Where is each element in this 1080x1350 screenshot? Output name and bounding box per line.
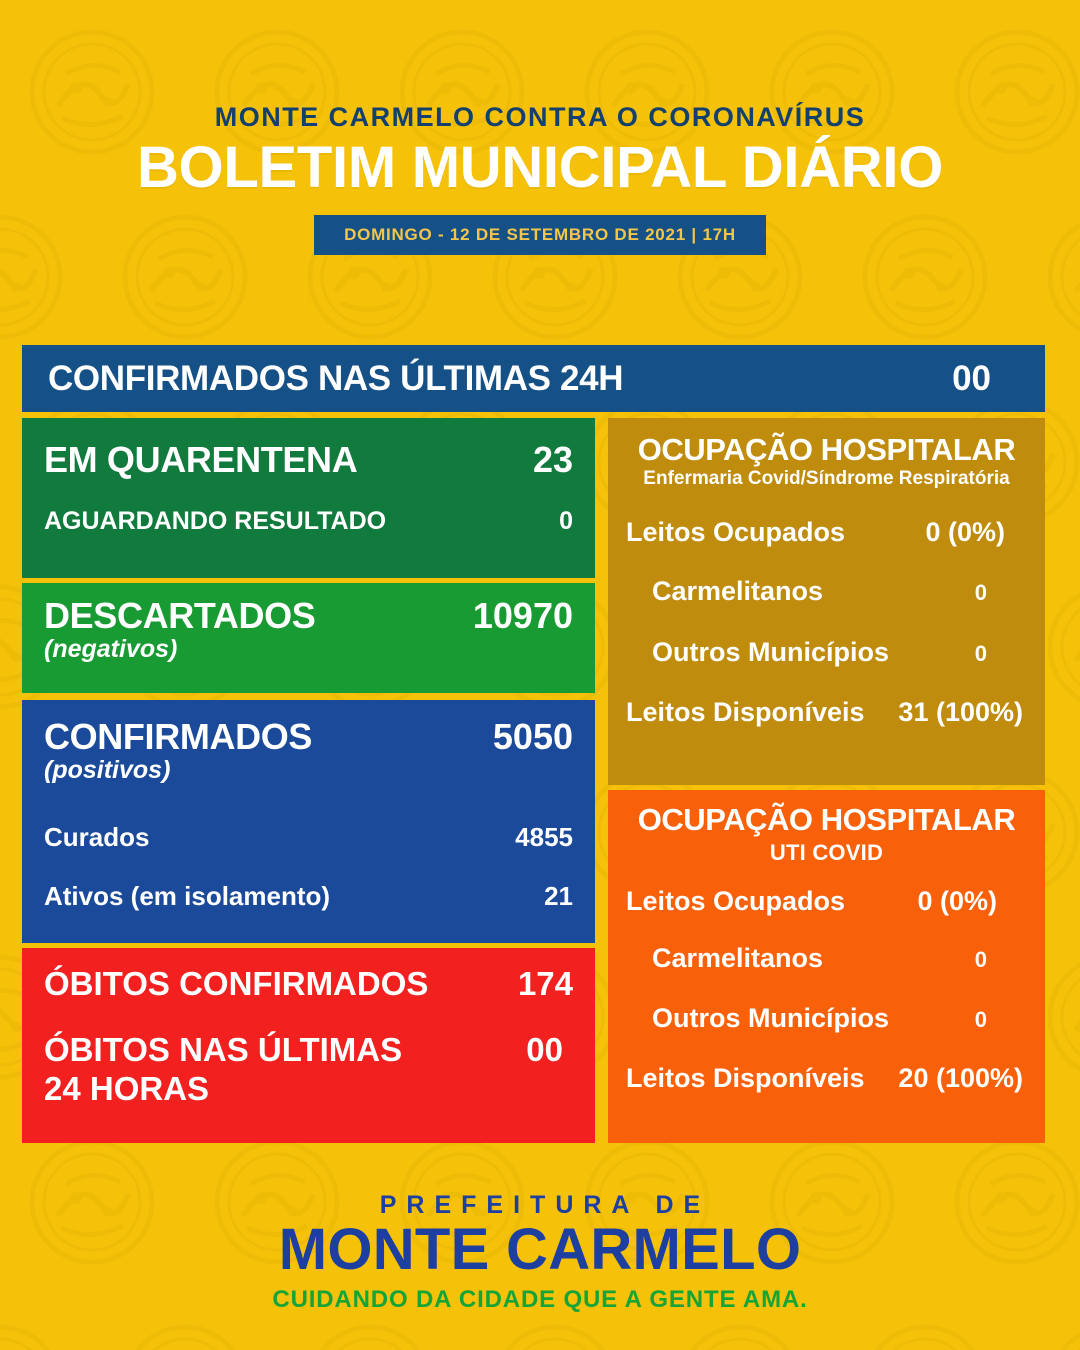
ativos-label: Ativos (em isolamento) (44, 883, 330, 910)
aguardando-resultado-value: 0 (559, 508, 573, 534)
curados-value: 4855 (515, 824, 573, 851)
page-title: BOLETIM MUNICIPAL DIÁRIO (0, 137, 1080, 198)
obitos-confirmados-label: ÓBITOS CONFIRMADOS (44, 965, 428, 1003)
uti-leitos-disponiveis-label: Leitos Disponíveis (626, 1064, 865, 1092)
card-confirmados: CONFIRMADOS 5050 (positivos) Curados 485… (22, 700, 595, 943)
uti-title: OCUPAÇÃO HOSPITALAR (626, 804, 1027, 837)
confirmados-value: 5050 (493, 718, 573, 756)
footer-city-name: MONTE CARMELO (0, 1220, 1080, 1279)
enfermaria-leitos-ocupados-label: Leitos Ocupados (626, 518, 845, 546)
confirmados-24h-value: 00 (952, 361, 1021, 396)
enfermaria-subtitle: Enfermaria Covid/Síndrome Respiratória (626, 469, 1027, 490)
card-em-quarentena: EM QUARENTENA 23 AGUARDANDO RESULTADO 0 (22, 418, 595, 578)
enfermaria-outros-municipios-value: 0 (975, 642, 1027, 665)
descartados-value: 10970 (473, 597, 573, 635)
enfermaria-leitos-disponiveis-label: Leitos Disponíveis (626, 698, 865, 726)
quarentena-label: EM QUARENTENA (44, 441, 357, 479)
obitos-24h-label: ÓBITOS NAS ÚLTIMAS 24 HORAS (44, 1031, 444, 1109)
header: MONTE CARMELO CONTRA O CORONAVÍRUS BOLET… (0, 0, 1080, 255)
descartados-label: DESCARTADOS (44, 597, 315, 635)
uti-carmelitanos-label: Carmelitanos (652, 944, 823, 972)
footer-tagline: CUIDANDO DA CIDADE QUE A GENTE AMA. (0, 1288, 1080, 1312)
card-descartados: DESCARTADOS 10970 (negativos) (22, 583, 595, 693)
uti-outros-municipios-value: 0 (975, 1008, 1027, 1031)
ativos-value: 21 (544, 883, 573, 910)
left-column: EM QUARENTENA 23 AGUARDANDO RESULTADO 0 … (22, 418, 595, 1143)
card-confirmados-24h: CONFIRMADOS NAS ÚLTIMAS 24H 00 (22, 345, 1045, 412)
uti-leitos-ocupados-label: Leitos Ocupados (626, 887, 845, 915)
enfermaria-carmelitanos-value: 0 (975, 581, 1027, 604)
confirmados-24h-label: CONFIRMADOS NAS ÚLTIMAS 24H (48, 361, 623, 396)
header-kicker: MONTE CARMELO CONTRA O CORONAVÍRUS (0, 104, 1080, 131)
uti-carmelitanos-value: 0 (975, 948, 1027, 971)
uti-leitos-ocupados-value: 0 (0%) (917, 887, 1027, 915)
uti-leitos-disponiveis-value: 20 (100%) (898, 1064, 1027, 1092)
curados-label: Curados (44, 824, 149, 851)
aguardando-resultado-label: AGUARDANDO RESULTADO (44, 508, 386, 534)
date-badge: DOMINGO - 12 DE SETEMBRO DE 2021 | 17H (314, 215, 766, 255)
confirmados-label: CONFIRMADOS (44, 718, 312, 756)
uti-outros-municipios-label: Outros Municípios (652, 1004, 889, 1032)
obitos-24h-value: 00 (526, 1031, 573, 1069)
footer-logo: PREFEITURA DE MONTE CARMELO CUIDANDO DA … (0, 1193, 1080, 1336)
card-obitos: ÓBITOS CONFIRMADOS 174 ÓBITOS NAS ÚLTIMA… (22, 948, 595, 1143)
right-column: OCUPAÇÃO HOSPITALAR Enfermaria Covid/Sín… (608, 418, 1045, 1143)
uti-subtitle: UTI COVID (626, 841, 1027, 865)
stats-grid: CONFIRMADOS NAS ÚLTIMAS 24H 00 EM QUAREN… (22, 345, 1045, 1143)
enfermaria-outros-municipios-label: Outros Municípios (652, 638, 889, 666)
enfermaria-title: OCUPAÇÃO HOSPITALAR (626, 434, 1027, 467)
enfermaria-leitos-disponiveis-value: 31 (100%) (898, 698, 1027, 726)
confirmados-note: (positivos) (44, 757, 573, 785)
descartados-note: (negativos) (44, 636, 573, 664)
card-ocupacao-enfermaria: OCUPAÇÃO HOSPITALAR Enfermaria Covid/Sín… (608, 418, 1045, 785)
enfermaria-leitos-ocupados-value: 0 (0%) (925, 518, 1027, 546)
enfermaria-carmelitanos-label: Carmelitanos (652, 577, 823, 605)
card-ocupacao-uti: OCUPAÇÃO HOSPITALAR UTI COVID Leitos Ocu… (608, 790, 1045, 1143)
footer-prefecture-label: PREFEITURA DE (0, 1193, 1080, 1218)
obitos-confirmados-value: 174 (518, 965, 573, 1003)
quarentena-value: 23 (533, 441, 573, 479)
